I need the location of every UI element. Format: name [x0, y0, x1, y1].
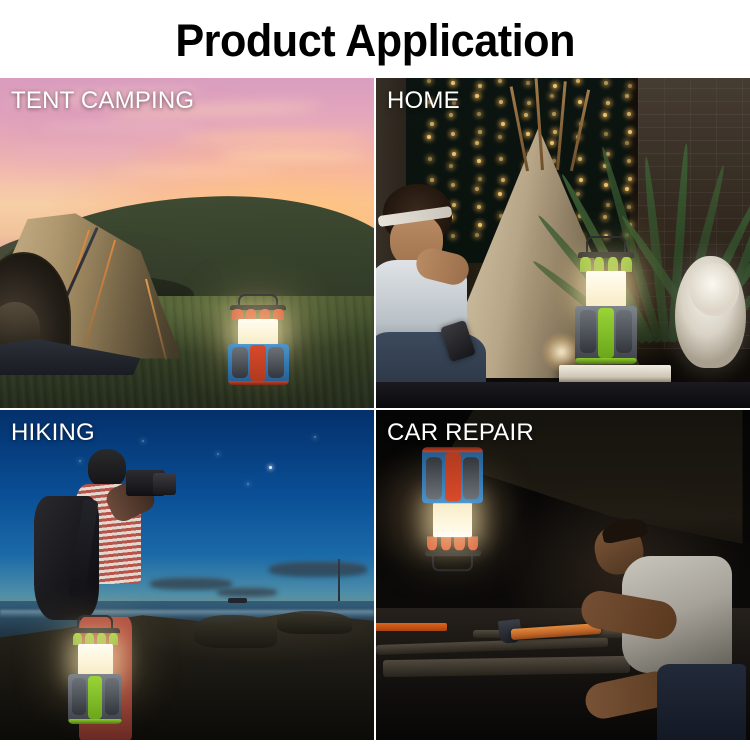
application-cell-hiking[interactable]: HIKING: [0, 410, 374, 740]
camera-lens: [153, 473, 175, 495]
page-header: Product Application: [0, 0, 750, 78]
fairy-light-bulb: [475, 94, 479, 98]
fairy-light-bulb: [430, 122, 434, 126]
lantern-base: [68, 719, 122, 724]
application-grid: TENT CAMPING: [0, 78, 750, 750]
lantern-tooth: [468, 537, 478, 552]
lantern-light-panel: [433, 503, 472, 538]
bed-surface: [376, 382, 750, 408]
fairy-light-bulb: [449, 164, 453, 168]
fairy-light-bulb: [578, 157, 582, 161]
lantern-side-panel: [268, 347, 284, 378]
lantern-crown: [578, 252, 634, 273]
cloud-band: [217, 588, 277, 597]
lantern-body: [575, 306, 636, 364]
mechanic-trousers: [657, 664, 746, 740]
lantern-light-panel: [238, 319, 277, 345]
lantern-center-strip: [88, 676, 102, 719]
lantern-side-panel: [616, 310, 632, 353]
fairy-light-bulb: [427, 79, 431, 83]
cat-head: [690, 263, 739, 316]
lantern-tooth: [427, 537, 437, 552]
lantern-side-panel: [463, 457, 479, 499]
fairy-light-bulb: [603, 113, 607, 117]
lantern-base: [575, 358, 636, 364]
product-lantern-green: [67, 615, 123, 734]
cell-label-car-repair: CAR REPAIR: [387, 419, 534, 447]
rock: [194, 615, 276, 648]
fairy-light-bulb: [550, 141, 554, 145]
product-lantern-blue-hanging: [421, 436, 485, 571]
lantern-cap: [425, 550, 481, 556]
lantern-crown: [71, 628, 120, 646]
lantern-body: [68, 674, 122, 724]
cloud: [180, 133, 367, 143]
fairy-light-bulb: [501, 122, 505, 126]
spirit-level-tool: [376, 623, 447, 632]
application-cell-car-repair[interactable]: CAR REPAIR: [376, 410, 750, 740]
photographer-head: [88, 449, 127, 487]
lantern-tooth: [454, 537, 464, 552]
lantern-light-panel: [78, 644, 113, 675]
fairy-light-bulb: [625, 94, 629, 98]
fairy-light-bulb: [627, 112, 631, 116]
fairy-light-bulb: [576, 79, 580, 83]
lantern-side-panel: [105, 678, 119, 715]
cell-label-tent-camping: TENT CAMPING: [11, 87, 194, 115]
fairy-light-bulb: [475, 141, 479, 145]
lantern-center-strip: [445, 453, 461, 502]
product-lantern-green: [574, 236, 638, 375]
fairy-light-bulb: [606, 101, 610, 105]
fairy-light-bulb: [606, 203, 610, 207]
cell-label-home: HOME: [387, 87, 460, 115]
lantern-side-panel: [580, 310, 596, 353]
page-title: Product Application: [175, 18, 575, 63]
lantern-body: [228, 344, 289, 386]
fairy-light-bulb: [550, 94, 554, 98]
cloud: [37, 123, 202, 131]
rock: [277, 611, 352, 634]
lantern-side-panel: [426, 457, 442, 499]
fairy-light-bulb: [524, 113, 528, 117]
lantern-center-strip: [250, 345, 266, 381]
application-cell-tent-camping[interactable]: TENT CAMPING: [0, 78, 374, 408]
star: [314, 436, 316, 438]
fairy-light-bulb: [603, 215, 607, 219]
lantern-side-panel: [232, 347, 248, 378]
cloud: [217, 152, 367, 160]
lantern-side-panel: [72, 678, 86, 715]
fairy-light-bulb: [427, 135, 431, 139]
application-cell-home[interactable]: HOME: [376, 78, 750, 408]
boy: [376, 184, 488, 408]
lantern-body: [422, 447, 483, 504]
mechanic: [574, 516, 746, 740]
lantern-base: [422, 447, 483, 453]
lantern-crown: [230, 305, 286, 320]
star: [142, 440, 144, 442]
cloud-band: [269, 562, 366, 577]
fairy-light-bulb: [628, 84, 632, 88]
lantern-light-panel: [586, 271, 625, 307]
fairy-light-bulb: [498, 192, 502, 196]
star: [247, 483, 249, 485]
lantern-teeth: [425, 537, 481, 552]
cell-label-hiking: HIKING: [11, 419, 95, 447]
product-lantern-blue: [226, 294, 290, 393]
tent: [0, 210, 180, 375]
star: [217, 453, 219, 455]
product-application-page: Product Application: [0, 0, 750, 750]
cloud: [15, 148, 142, 155]
fairy-light-bulb: [498, 135, 502, 139]
lantern-crown: [425, 537, 481, 557]
cloud: [112, 168, 284, 174]
star: [269, 466, 272, 469]
tent-door-interior: [0, 302, 40, 346]
lantern-tooth: [441, 537, 451, 552]
lantern-center-strip: [598, 308, 614, 358]
star: [79, 460, 81, 462]
distant-mast: [338, 559, 340, 602]
lantern-handle: [432, 554, 473, 572]
lantern-base: [228, 381, 289, 385]
fairy-light-bulb: [498, 79, 502, 83]
distant-ship: [228, 598, 247, 603]
fairy-light-bulb: [477, 159, 481, 163]
